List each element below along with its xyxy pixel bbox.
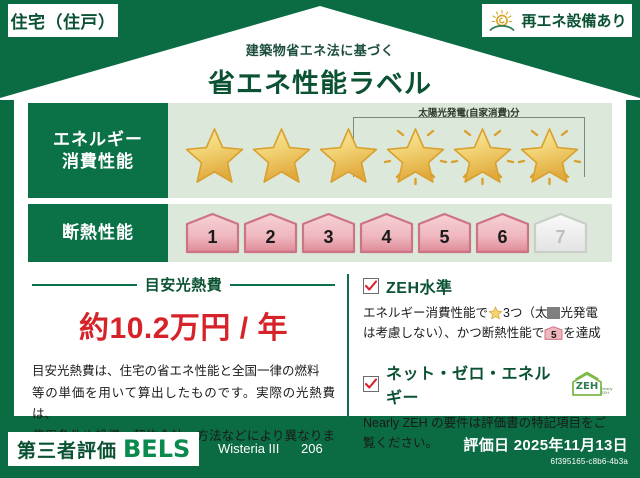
insulation-level-6-number: 6 [474, 227, 531, 248]
zeh-standard-body-b: 3つ（太 [503, 306, 547, 320]
zeh-house-icon: ZEH Nearly ZEH [568, 371, 616, 397]
insulation-label: 断熱性能 [62, 222, 134, 243]
details-area: 目安光熱費 約10.2万円 / 年 目安光熱費は、住宅の省エネ性能と全国一律の燃… [14, 272, 626, 422]
energy-performance-label-box: エネルギー 消費性能 [28, 103, 168, 198]
utility-cost-value: 約10.2万円 / 年 [32, 303, 335, 347]
star-2 [249, 121, 314, 187]
zeh-standard-body-d: は考慮しない）、かつ断熱性能で [363, 326, 544, 340]
building-name: Wisteria III [218, 441, 279, 456]
insulation-performance-row: 断熱性能 [28, 198, 612, 262]
evaluation-info: 評価日 2025年11月13日 6f395165-c8b6-4b3a [463, 434, 628, 466]
zeh-mark-sub2: ZEH [601, 390, 609, 395]
star-rating [168, 121, 582, 187]
insulation-level-5: 5 [416, 211, 473, 255]
insulation-level-1: 1 [184, 211, 241, 255]
utility-cost-heading: 目安光熱費 [32, 274, 335, 295]
utility-cost-column: 目安光熱費 約10.2万円 / 年 目安光熱費は、住宅の省エネ性能と全国一律の燃… [14, 272, 347, 422]
star-4-solar [383, 121, 448, 187]
insulation-performance-label-box: 断熱性能 [28, 204, 168, 262]
utility-cost-heading-label: 目安光熱費 [145, 274, 223, 295]
evaluation-date: 評価日 2025年11月13日 [463, 434, 628, 455]
inline-insulation-level-number: 5 [544, 328, 563, 344]
housing-type-badge: 住宅（住戸） [8, 4, 118, 37]
building-identification: Wisteria III 206 [218, 441, 323, 456]
redacted-block [547, 307, 560, 319]
insulation-level-4-number: 4 [358, 227, 415, 248]
heading-rule-left [32, 284, 137, 286]
sun-icon [487, 9, 517, 33]
footer: 第三者評価 BELS Wisteria III 206 評価日 2025年11月… [0, 422, 640, 478]
insulation-level-2-number: 2 [242, 227, 299, 248]
net-zero-title: ネット・ゼロ・エネルギー [386, 360, 561, 408]
insulation-level-2: 2 [242, 211, 299, 255]
inline-star-icon [488, 305, 503, 320]
energy-performance-label: 住宅（住戸） 再エネ設備あり 建築物省エネ法に基づく 省エネ性能ラベル [0, 0, 640, 478]
zeh-standard-title: ZEH水準 [386, 274, 453, 298]
insulation-level-7-number: 7 [532, 227, 589, 248]
checkbox-checked-icon-2 [363, 376, 379, 392]
insulation-level-5-number: 5 [416, 227, 473, 248]
renewable-energy-badge: 再エネ設備あり [482, 4, 632, 37]
housing-type-label: 住宅（住戸） [11, 8, 116, 33]
bels-logo: BELS [123, 435, 190, 463]
heading-rule-right [230, 284, 335, 286]
insulation-level-6: 6 [474, 211, 531, 255]
third-party-eval-label: 第三者評価 [17, 436, 117, 463]
zeh-standard-body-c: 光発電 [560, 306, 598, 320]
energy-performance-row: エネルギー 消費性能 太陽光発電(自家消費)分 [28, 94, 612, 198]
insulation-level-4: 4 [358, 211, 415, 255]
energy-stars-area: 太陽光発電(自家消費)分 [168, 103, 612, 198]
inline-insulation-level-badge: 5 [544, 325, 563, 341]
star-5-solar [450, 121, 515, 187]
insulation-level-7: 7 [532, 211, 589, 255]
net-zero-heading: ネット・ゼロ・エネルギー ZEH Nearly ZEH [363, 360, 616, 408]
checkbox-checked-icon [363, 278, 379, 294]
utility-cost-note-line1: 目安光熱費は、住宅の省エネ性能と全国一律の燃料 [32, 361, 335, 383]
insulation-levels-area: 1 2 3 [168, 204, 612, 262]
zeh-standard-body-a: エネルギー消費性能で [363, 306, 488, 320]
bels-certification-mark: 第三者評価 BELS [8, 432, 199, 466]
svg-text:ZEH: ZEH [576, 381, 598, 392]
utility-cost-note-line2: 等の単価を用いて算出したものです。実際の光熱費は、 [32, 383, 335, 426]
star-1 [182, 121, 247, 187]
certification-column: ZEH水準 エネルギー消費性能で3つ（太光発電 は考慮しない）、かつ断熱性能で5… [349, 272, 626, 422]
insulation-level-1-number: 1 [184, 227, 241, 248]
insulation-level-3-number: 3 [300, 227, 357, 248]
star-3 [316, 121, 381, 187]
main-panel: エネルギー 消費性能 太陽光発電(自家消費)分 [14, 94, 626, 416]
zeh-standard-body-e: を達成 [563, 326, 601, 340]
energy-label-line2: 消費性能 [53, 151, 143, 172]
renewable-energy-label: 再エネ設備あり [521, 10, 626, 31]
insulation-level-3: 3 [300, 211, 357, 255]
zeh-mark-sub: Nearly ZEH [601, 387, 617, 395]
insulation-level-scale: 1 2 3 [168, 211, 589, 255]
star-6-solar [517, 121, 582, 187]
record-id: 6f395165-c8b6-4b3a [463, 457, 628, 466]
zeh-standard-heading: ZEH水準 [363, 274, 616, 298]
unit-number: 206 [301, 441, 323, 456]
section-gap [363, 344, 616, 358]
energy-label-line1: エネルギー [53, 129, 143, 150]
zeh-standard-body: エネルギー消費性能で3つ（太光発電 は考慮しない）、かつ断熱性能で5を達成 [363, 303, 616, 344]
